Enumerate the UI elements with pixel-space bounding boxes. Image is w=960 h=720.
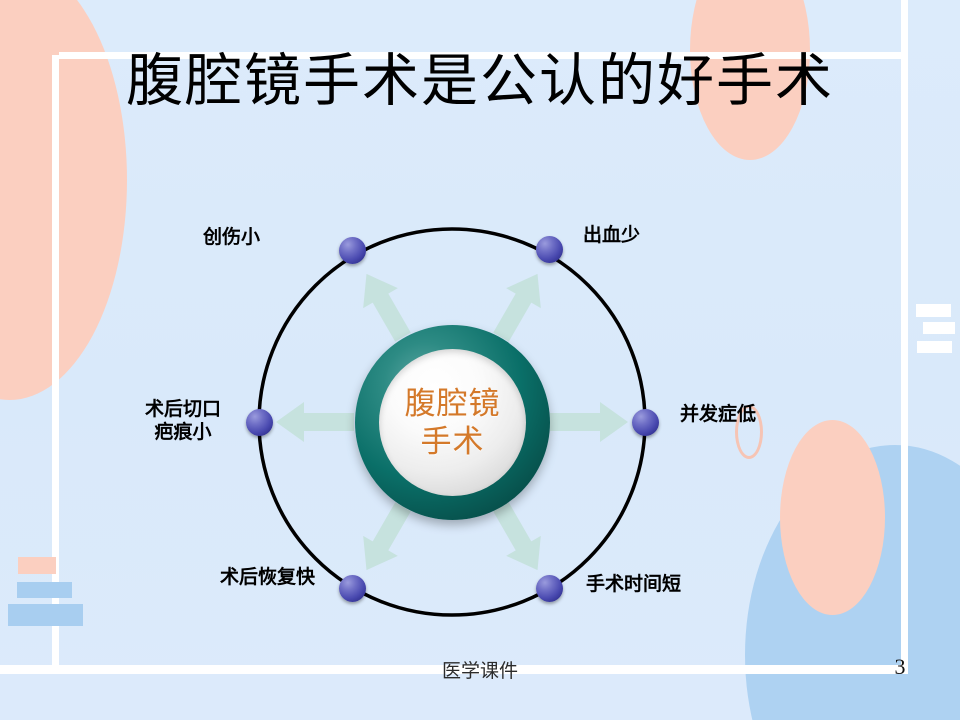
page-number: 3 bbox=[880, 654, 920, 680]
diagram-node-shoushushijianduan[interactable] bbox=[536, 575, 563, 602]
radial-diagram: 腹腔镜 手术 创伤小 出血少 并发症低 手术时间短 术后恢复快 术后切口 疤痕小 bbox=[0, 0, 960, 720]
diagram-node-shuhouhuifukuai[interactable] bbox=[339, 575, 366, 602]
diagram-node-chuangshangxiao[interactable] bbox=[339, 237, 366, 264]
hub-label-line2: 手术 bbox=[421, 423, 485, 461]
diagram-label-shuhouqiekou-line2: 疤痕小 bbox=[128, 421, 238, 444]
hub-label-line1: 腹腔镜 bbox=[405, 385, 501, 423]
diagram-label-bingfazhengdi: 并发症低 bbox=[680, 403, 756, 426]
diagram-label-shuhouhuifukuai: 术后恢复快 bbox=[170, 566, 315, 589]
diagram-label-shuhouqiekou-line1: 术后切口 bbox=[128, 398, 238, 421]
diagram-node-chuxueshao[interactable] bbox=[536, 236, 563, 263]
diagram-hub-inner: 腹腔镜 手术 bbox=[379, 349, 526, 496]
diagram-node-shuhouqiekou[interactable] bbox=[246, 409, 273, 436]
diagram-label-shuhouqiekou: 术后切口 疤痕小 bbox=[128, 398, 238, 444]
footer-note: 医学课件 bbox=[0, 656, 960, 683]
diagram-hub: 腹腔镜 手术 bbox=[355, 325, 550, 520]
diagram-label-chuxueshao: 出血少 bbox=[583, 224, 640, 247]
slide-canvas: 腹腔镜手术是公认的好手术 bbox=[0, 0, 960, 720]
diagram-label-shoushushijianduan: 手术时间短 bbox=[586, 573, 681, 596]
diagram-label-chuangshangxiao: 创伤小 bbox=[160, 226, 260, 249]
diagram-node-bingfazhengdi[interactable] bbox=[632, 409, 659, 436]
